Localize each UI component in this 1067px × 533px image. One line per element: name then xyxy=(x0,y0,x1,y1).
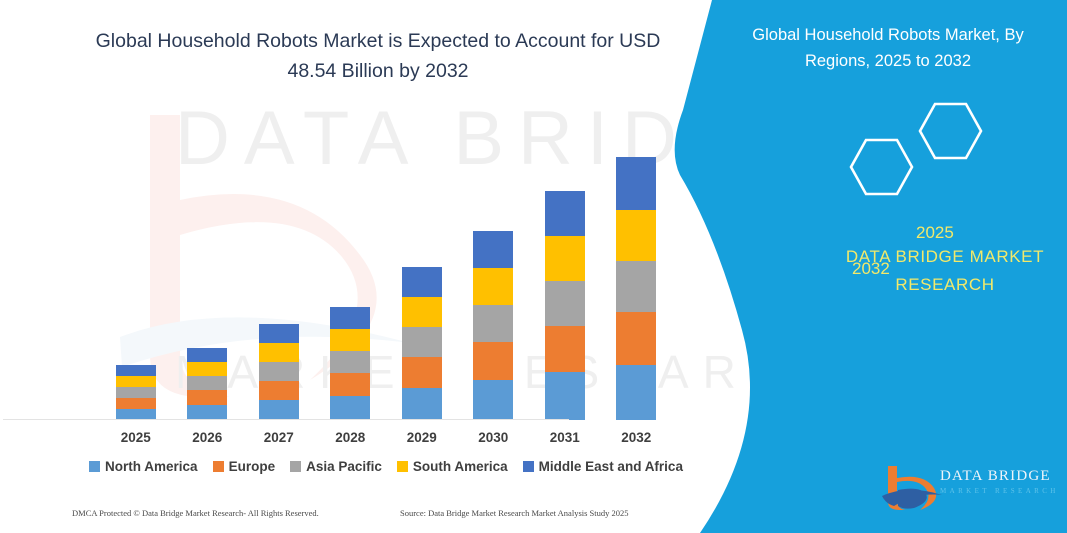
chart-bar-segment xyxy=(330,396,370,420)
chart-bar-segment xyxy=(259,381,299,400)
chart-plot-area xyxy=(100,120,672,420)
logo-sub-text: MARKET RESEARCH xyxy=(940,487,1059,495)
chart-bar-segment xyxy=(402,267,442,297)
chart-x-label: 2028 xyxy=(320,430,380,445)
legend-item[interactable]: South America xyxy=(397,459,508,474)
chart-bar-segment xyxy=(402,388,442,420)
brand-line-1: DATA BRIDGE MARKET xyxy=(820,243,1067,271)
chart-x-label: 2030 xyxy=(463,430,523,445)
chart-bar xyxy=(187,348,227,420)
chart-x-label: 2025 xyxy=(106,430,166,445)
chart-bar-segment xyxy=(545,372,585,420)
chart-bar-segment xyxy=(473,305,513,342)
logo-main-text: DATA BRIDGE xyxy=(940,468,1059,485)
chart-bar-segment xyxy=(330,373,370,396)
hexagon-badges: 2025 2032 xyxy=(820,96,1020,206)
chart-bar-segment xyxy=(402,327,442,357)
chart-bar-segment xyxy=(330,351,370,373)
chart-bar-segment xyxy=(616,210,656,261)
chart-bar-segment xyxy=(330,307,370,329)
hexagon-outline-icons xyxy=(820,96,1020,206)
stacked-bar-chart xyxy=(100,120,672,420)
chart-bar-segment xyxy=(473,268,513,305)
legend-label: South America xyxy=(413,459,508,474)
chart-axis-line xyxy=(3,419,569,420)
chart-bar xyxy=(616,157,656,420)
legend-item[interactable]: North America xyxy=(89,459,198,474)
footer-copyright: DMCA Protected © Data Bridge Market Rese… xyxy=(72,508,319,518)
chart-bar-segment xyxy=(116,376,156,387)
legend-item[interactable]: Middle East and Africa xyxy=(523,459,683,474)
chart-x-label: 2026 xyxy=(177,430,237,445)
chart-bar-segment xyxy=(330,329,370,351)
chart-x-label: 2029 xyxy=(392,430,452,445)
chart-bar-segment xyxy=(187,376,227,390)
infographic-canvas: DATA BRIDGE MARKET RESEARCH Global House… xyxy=(0,0,1067,533)
chart-bar-segment xyxy=(259,400,299,420)
chart-bar-segment xyxy=(187,348,227,362)
chart-bar-segment xyxy=(545,281,585,326)
chart-bar-segment xyxy=(545,326,585,372)
hexagon-2025-icon xyxy=(920,104,981,158)
panel-title: Global Household Robots Market, By Regio… xyxy=(728,22,1048,74)
legend-swatch-icon xyxy=(290,461,301,472)
chart-bar-segment xyxy=(259,343,299,362)
logo-wordmark: DATA BRIDGE MARKET RESEARCH xyxy=(940,468,1059,495)
hexagon-2025-label: 2025 xyxy=(916,223,954,243)
legend-label: Europe xyxy=(229,459,276,474)
footer-source: Source: Data Bridge Market Research Mark… xyxy=(400,508,629,518)
chart-bar-segment xyxy=(187,362,227,376)
chart-bar-segment xyxy=(259,324,299,343)
chart-x-label: 2032 xyxy=(606,430,666,445)
chart-bar-segment xyxy=(402,297,442,327)
legend-item[interactable]: Asia Pacific xyxy=(290,459,382,474)
chart-bar-segment xyxy=(473,380,513,420)
brand-line-2: RESEARCH xyxy=(820,271,1067,299)
chart-x-axis-labels: 20252026202720282029203020312032 xyxy=(100,427,672,447)
chart-x-label: 2031 xyxy=(535,430,595,445)
hexagon-2032-icon xyxy=(851,140,912,194)
chart-bar-segment xyxy=(116,387,156,398)
chart-bar-segment xyxy=(545,191,585,236)
brand-name: DATA BRIDGE MARKET RESEARCH xyxy=(820,243,1067,299)
legend-label: Asia Pacific xyxy=(306,459,382,474)
legend-swatch-icon xyxy=(213,461,224,472)
chart-bar-segment xyxy=(187,405,227,420)
chart-bar-segment xyxy=(616,312,656,365)
page-title: Global Household Robots Market is Expect… xyxy=(78,26,678,86)
chart-bar-segment xyxy=(616,261,656,312)
chart-bar-segment xyxy=(116,398,156,409)
legend-swatch-icon xyxy=(523,461,534,472)
chart-bar-segment xyxy=(259,362,299,381)
chart-bar-segment xyxy=(402,357,442,388)
chart-bar-segment xyxy=(616,365,656,420)
chart-x-label: 2027 xyxy=(249,430,309,445)
legend-label: Middle East and Africa xyxy=(539,459,683,474)
chart-bar xyxy=(402,267,442,420)
legend-item[interactable]: Europe xyxy=(213,459,276,474)
chart-bar-segment xyxy=(473,231,513,268)
chart-bar-segment xyxy=(545,236,585,281)
chart-bar xyxy=(473,231,513,420)
chart-bar xyxy=(545,191,585,420)
legend-swatch-icon xyxy=(89,461,100,472)
chart-bar-segment xyxy=(473,342,513,380)
chart-bar-segment xyxy=(187,390,227,405)
chart-bar xyxy=(259,324,299,420)
chart-bar-segment xyxy=(616,157,656,210)
chart-bar-segment xyxy=(116,365,156,376)
legend-swatch-icon xyxy=(397,461,408,472)
chart-bar xyxy=(116,365,156,420)
legend-label: North America xyxy=(105,459,198,474)
chart-bar xyxy=(330,307,370,420)
chart-legend: North AmericaEuropeAsia PacificSouth Ame… xyxy=(96,455,676,477)
